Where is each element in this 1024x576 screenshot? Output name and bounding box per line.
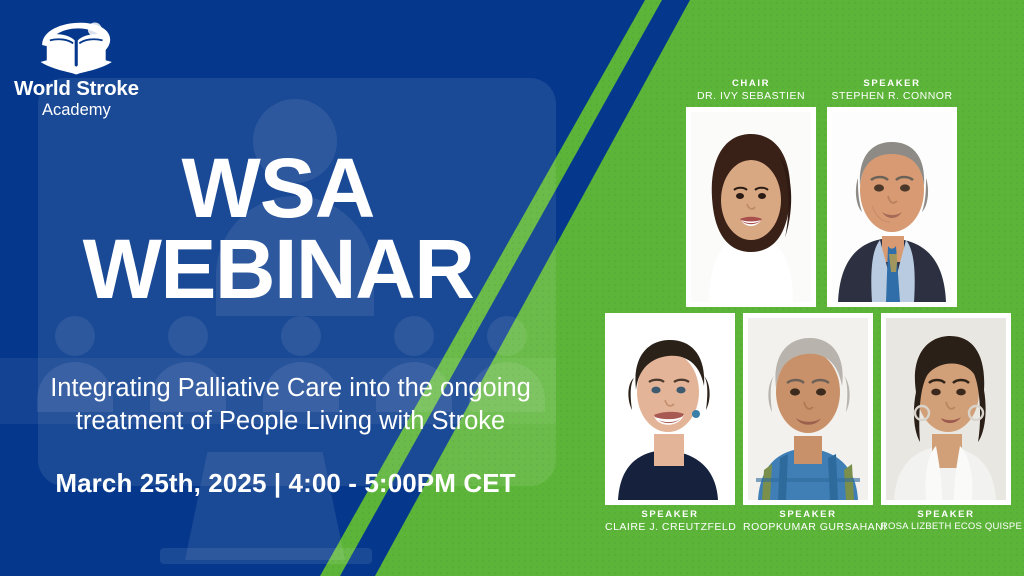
speaker-photo-frame: [686, 107, 816, 307]
headline-line-2: WEBINAR: [0, 229, 556, 310]
headline-line-1: WSA: [182, 141, 375, 235]
logo-line-2: Academy: [12, 101, 202, 119]
speaker-name: STEPHEN R. CONNOR: [827, 90, 957, 103]
logo-wordmark: World Stroke Academy: [12, 78, 202, 119]
speaker-name: DR. IVY SEBASTIEN: [686, 90, 816, 103]
speaker-role: CHAIR: [686, 78, 816, 90]
speaker-role: SPEAKER: [743, 509, 873, 521]
speaker-name: ROOPKUMAR GURSAHANI: [743, 521, 873, 534]
speaker-photo-frame: [605, 313, 735, 505]
speaker-photo-frame: [881, 313, 1011, 505]
logo-line-1: World Stroke: [12, 78, 202, 100]
speaker-portrait: [691, 112, 811, 302]
speaker-role: SPEAKER: [881, 509, 1011, 521]
webinar-subtitle: Integrating Palliative Care into the ong…: [18, 372, 563, 437]
left-content-column: World Stroke Academy WSA WEBINAR Integra…: [0, 0, 600, 576]
page-title: WSA WEBINAR: [0, 148, 556, 309]
speaker-card-ivy-sebastien: CHAIR DR. IVY SEBASTIEN: [686, 78, 816, 307]
speaker-portrait: [610, 318, 730, 500]
speaker-portrait: [886, 318, 1006, 500]
webinar-datetime: March 25th, 2025 | 4:00 - 5:00PM CET: [18, 468, 553, 499]
speaker-role: SPEAKER: [827, 78, 957, 90]
webinar-poster: World Stroke Academy WSA WEBINAR Integra…: [0, 0, 1024, 576]
speaker-card-stephen-r-connor: SPEAKER STEPHEN R. CONNOR: [827, 78, 957, 307]
speaker-caption: SPEAKER STEPHEN R. CONNOR: [827, 78, 957, 103]
speaker-caption: CHAIR DR. IVY SEBASTIEN: [686, 78, 816, 103]
speaker-role: SPEAKER: [605, 509, 735, 521]
speaker-caption: SPEAKER ROSA LIZBETH ECOS QUISPE: [881, 509, 1011, 533]
speaker-caption: SPEAKER CLAIRE J. CREUTZFELD: [605, 509, 735, 534]
speaker-card-rosa-lizbeth-ecos-quispe: SPEAKER ROSA LIZBETH ECOS QUISPE: [881, 313, 1011, 533]
speaker-card-claire-j-creutzfeld: SPEAKER CLAIRE J. CREUTZFELD: [605, 313, 735, 534]
speaker-card-roopkumar-gursahani: SPEAKER ROOPKUMAR GURSAHANI: [743, 313, 873, 534]
speaker-portrait: [748, 318, 868, 500]
wsa-logo: World Stroke Academy: [12, 14, 202, 119]
speaker-photo-frame: [827, 107, 957, 307]
speaker-caption: SPEAKER ROOPKUMAR GURSAHANI: [743, 509, 873, 534]
speaker-name: ROSA LIZBETH ECOS QUISPE: [881, 521, 1011, 533]
speaker-photo-frame: [743, 313, 873, 505]
open-book-swoosh-icon: [34, 14, 120, 76]
speaker-name: CLAIRE J. CREUTZFELD: [605, 521, 735, 534]
speakers-grid: CHAIR DR. IVY SEBASTIEN: [590, 0, 1024, 576]
speaker-portrait: [832, 112, 952, 302]
